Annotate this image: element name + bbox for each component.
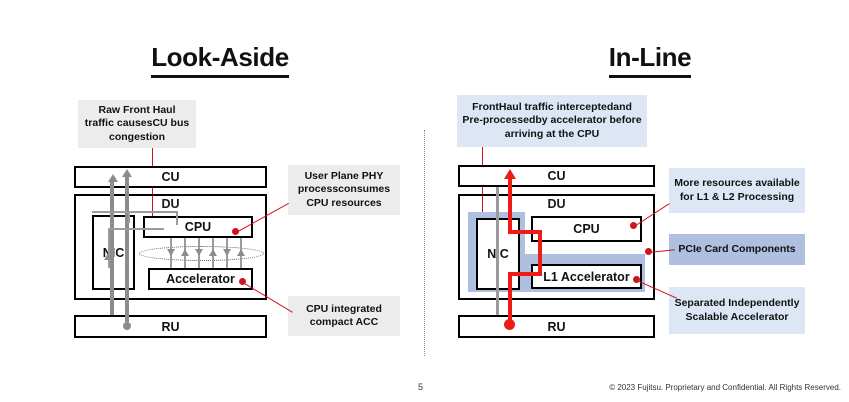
- left-panel-title: Look-Aside: [151, 42, 289, 78]
- left-path-arrowhead-a: [108, 174, 118, 182]
- callout-pcie-legend: PCIe Card Components: [669, 234, 805, 265]
- page-number: 5: [418, 382, 423, 392]
- right-block-l1-accelerator: L1 Accelerator: [531, 264, 642, 289]
- left-nic-cpu-link-mid-v: [108, 228, 110, 268]
- leader-dot-cpu-right-left: [232, 228, 239, 235]
- left-block-accelerator-label: Accelerator: [166, 272, 235, 286]
- right-block-l1-accelerator-label: L1 Accelerator: [543, 270, 629, 284]
- right-panel-title-wrap: In-Line: [540, 42, 760, 78]
- callout-separated-accelerator: Separated Independently Scalable Acceler…: [669, 287, 805, 334]
- left-acc-arrow-down-1: [167, 249, 175, 256]
- left-cpu-top-rail: [128, 211, 178, 213]
- callout-compact-acc: CPU integrated compact ACC: [288, 296, 400, 336]
- callout-user-plane-phy: User Plane PHY processconsumes CPU resou…: [288, 165, 400, 215]
- left-acc-arrow-up-4: [209, 249, 217, 256]
- leader-dot-cpu-right: [630, 222, 637, 229]
- right-block-cu: CU: [458, 165, 655, 187]
- right-redpath-h-to-acc: [508, 272, 542, 276]
- right-block-ru-label: RU: [547, 320, 565, 334]
- left-block-cu: CU: [74, 166, 267, 188]
- right-block-cpu-label: CPU: [573, 222, 599, 236]
- right-block-cu-label: CU: [547, 169, 565, 183]
- left-block-cu-label: CU: [161, 170, 179, 184]
- left-block-accelerator: Accelerator: [148, 268, 253, 290]
- left-cpu-right-rail: [176, 211, 178, 225]
- right-block-du-label: DU: [458, 197, 655, 211]
- right-redpath-v-to-cu: [508, 178, 512, 232]
- left-acc-arrow-up-6: [237, 249, 245, 256]
- right-block-cpu: CPU: [531, 216, 642, 242]
- callout-more-resources: More resources available for L1 & L2 Pro…: [669, 168, 805, 213]
- left-block-du-label: DU: [74, 197, 267, 211]
- right-panel-title: In-Line: [609, 42, 691, 78]
- right-legacy-path-bar: [496, 187, 499, 315]
- right-redpath-origin-dot: [504, 319, 515, 330]
- left-panel-title-wrap: Look-Aside: [110, 42, 330, 78]
- left-acc-arrow-down-5: [223, 249, 231, 256]
- right-block-ru: RU: [458, 315, 655, 338]
- leader-dot-pcie-region: [645, 248, 652, 255]
- copyright-notice: © 2023 Fujitsu. Proprietary and Confiden…: [609, 383, 841, 392]
- right-redpath-arrowhead: [504, 169, 516, 179]
- leader-dot-accelerator: [239, 278, 246, 285]
- left-path-arrowhead-b: [122, 169, 132, 177]
- right-redpath-v-from-ru: [508, 275, 512, 325]
- panel-divider: [424, 130, 425, 356]
- left-path-bar-a: [110, 181, 114, 315]
- callout-fronthaul-intercepted: FrontHaul traffic interceptedand Pre-pro…: [457, 95, 647, 147]
- left-nic-cpu-link-mid: [108, 228, 164, 230]
- left-acc-arrow-up-2: [181, 249, 189, 256]
- left-block-ru: RU: [74, 315, 267, 338]
- left-acc-arrow-down-3: [195, 249, 203, 256]
- right-redpath-h-to-cpu: [508, 230, 542, 234]
- left-block-cpu-label: CPU: [185, 220, 211, 234]
- callout-raw-fronthaul: Raw Front Haul traffic causesCU bus cong…: [78, 100, 196, 148]
- left-block-ru-label: RU: [161, 320, 179, 334]
- leader-dot-l1-accelerator: [633, 276, 640, 283]
- right-redpath-v-acc-to-cpu: [538, 230, 542, 274]
- left-path-bar-b: [125, 176, 129, 322]
- left-nic-return-arrow: [104, 253, 112, 260]
- left-path-origin-dot: [123, 322, 131, 330]
